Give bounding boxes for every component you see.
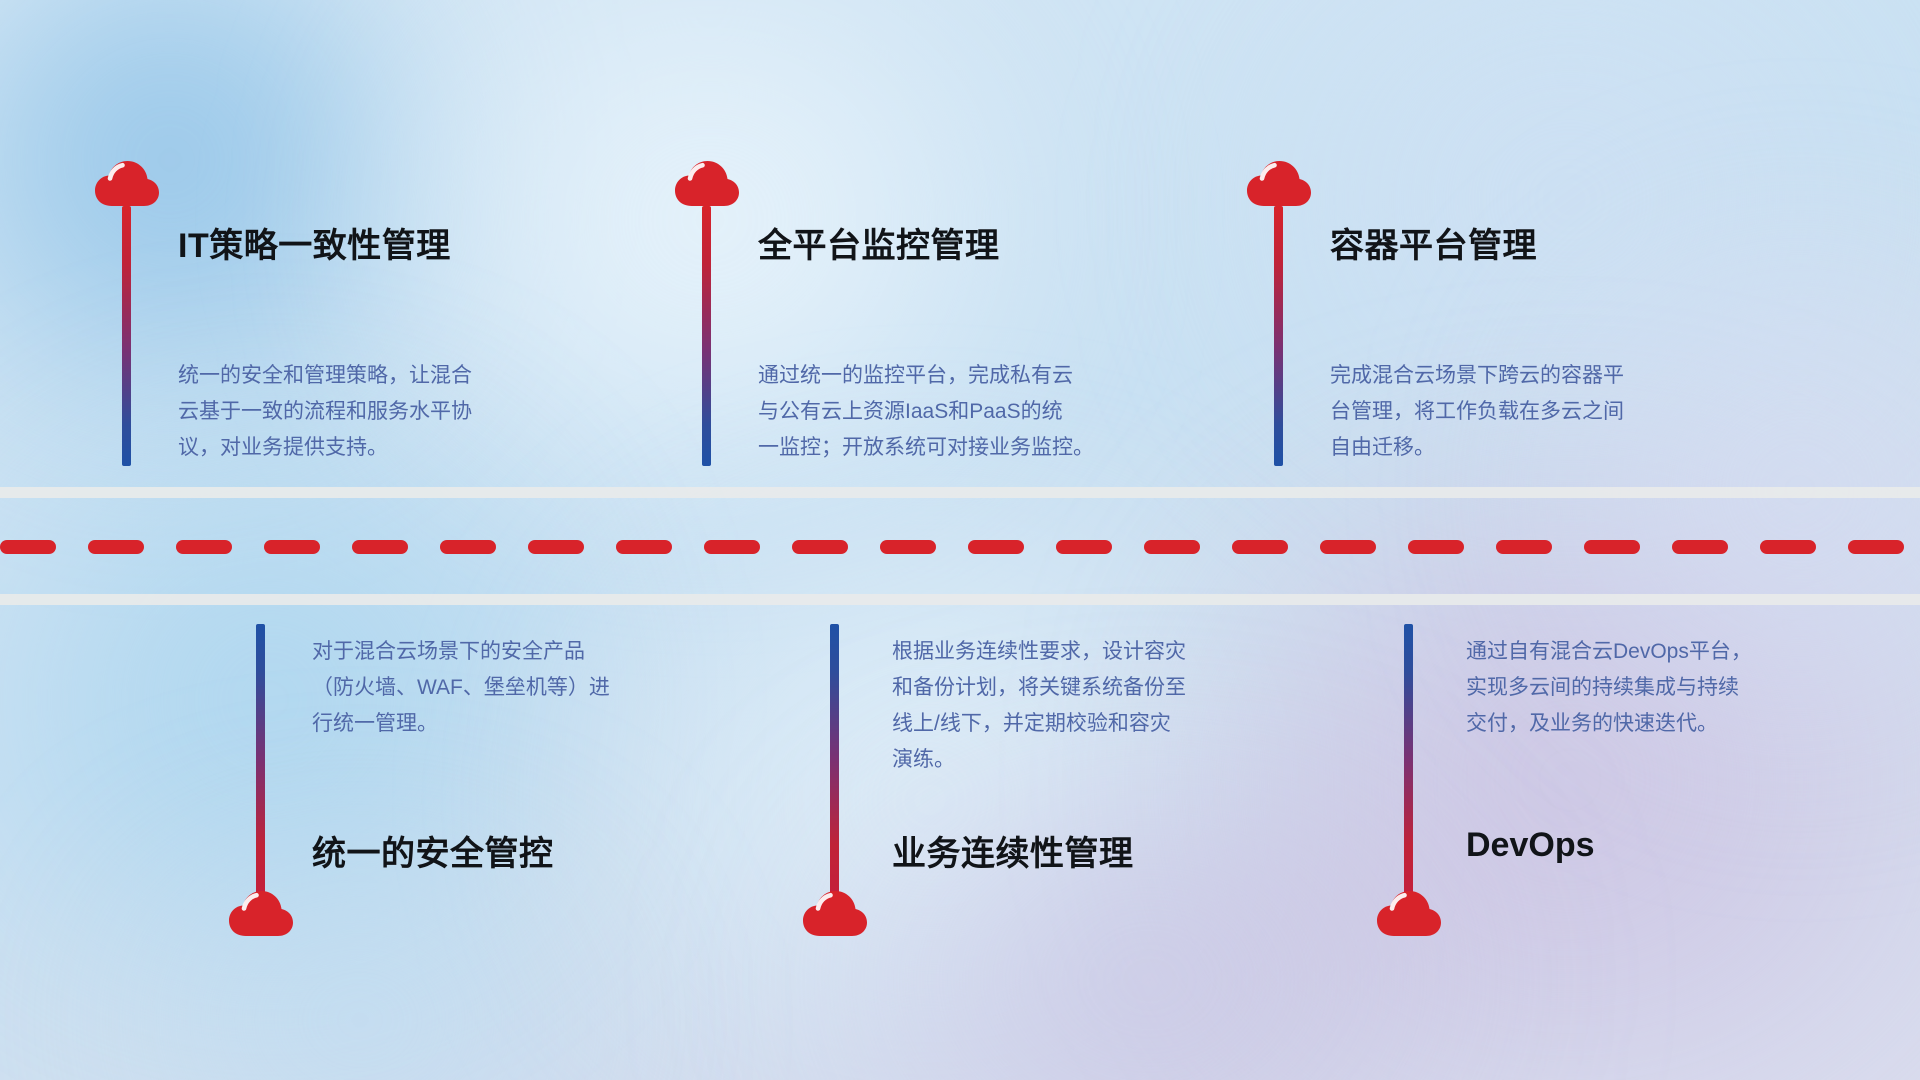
cloud-icon <box>1246 160 1312 208</box>
column-body: 完成混合云场景下跨云的容器平 台管理，将工作负载在多云之间 自由迁移。 <box>1330 358 1770 466</box>
dash-segment <box>88 540 144 554</box>
dash-segment <box>352 540 408 554</box>
column-title: IT策略一致性管理 <box>178 218 451 267</box>
column-title: DevOps <box>1466 826 1595 865</box>
column-title: 全平台监控管理 <box>758 218 1000 267</box>
column-title: 业务连续性管理 <box>892 826 1134 875</box>
dash-segment <box>968 540 1024 554</box>
dash-segment <box>880 540 936 554</box>
dash-segment <box>176 540 232 554</box>
dash-segment <box>1672 540 1728 554</box>
dash-segment <box>1760 540 1816 554</box>
dash-segment <box>1056 540 1112 554</box>
dash-segment <box>0 540 56 554</box>
dash-segment <box>616 540 672 554</box>
connector-stem <box>1404 624 1413 894</box>
dash-segment <box>528 540 584 554</box>
column-body: 通过自有混合云DevOps平台， 实现多云间的持续集成与持续 交付，及业务的快速… <box>1466 634 1886 742</box>
dash-segment <box>1408 540 1464 554</box>
divider-line-bottom <box>0 594 1920 605</box>
dash-segment <box>440 540 496 554</box>
column-body: 通过统一的监控平台，完成私有云 与公有云上资源IaaS和PaaS的统 一监控；开… <box>758 358 1208 466</box>
column-body: 根据业务连续性要求，设计容灾 和备份计划，将关键系统备份至 线上/线下，并定期校… <box>892 634 1312 778</box>
cloud-icon <box>228 890 294 938</box>
cloud-icon <box>94 160 160 208</box>
connector-stem <box>122 206 131 466</box>
cloud-icon <box>674 160 740 208</box>
column-title: 容器平台管理 <box>1330 218 1537 267</box>
cloud-icon <box>1376 890 1442 938</box>
dash-segment <box>1232 540 1288 554</box>
dash-segment <box>1320 540 1376 554</box>
dash-segment <box>792 540 848 554</box>
divider-line-top <box>0 487 1920 498</box>
connector-stem <box>702 206 711 466</box>
infographic-canvas: IT策略一致性管理 统一的安全和管理策略，让混合 云基于一致的流程和服务水平协 … <box>0 0 1920 1080</box>
dash-segment <box>1848 540 1904 554</box>
column-body: 统一的安全和管理策略，让混合 云基于一致的流程和服务水平协 议，对业务提供支持。 <box>178 358 608 466</box>
dashed-separator <box>0 540 1920 554</box>
column-body: 对于混合云场景下的安全产品 （防火墙、WAF、堡垒机等）进 行统一管理。 <box>312 634 732 742</box>
dash-segment <box>1144 540 1200 554</box>
connector-stem <box>830 624 839 894</box>
dash-segment <box>1496 540 1552 554</box>
dash-segment <box>704 540 760 554</box>
column-title: 统一的安全管控 <box>312 826 554 875</box>
connector-stem <box>256 624 265 894</box>
connector-stem <box>1274 206 1283 466</box>
cloud-icon <box>802 890 868 938</box>
dash-segment <box>1584 540 1640 554</box>
dash-segment <box>264 540 320 554</box>
